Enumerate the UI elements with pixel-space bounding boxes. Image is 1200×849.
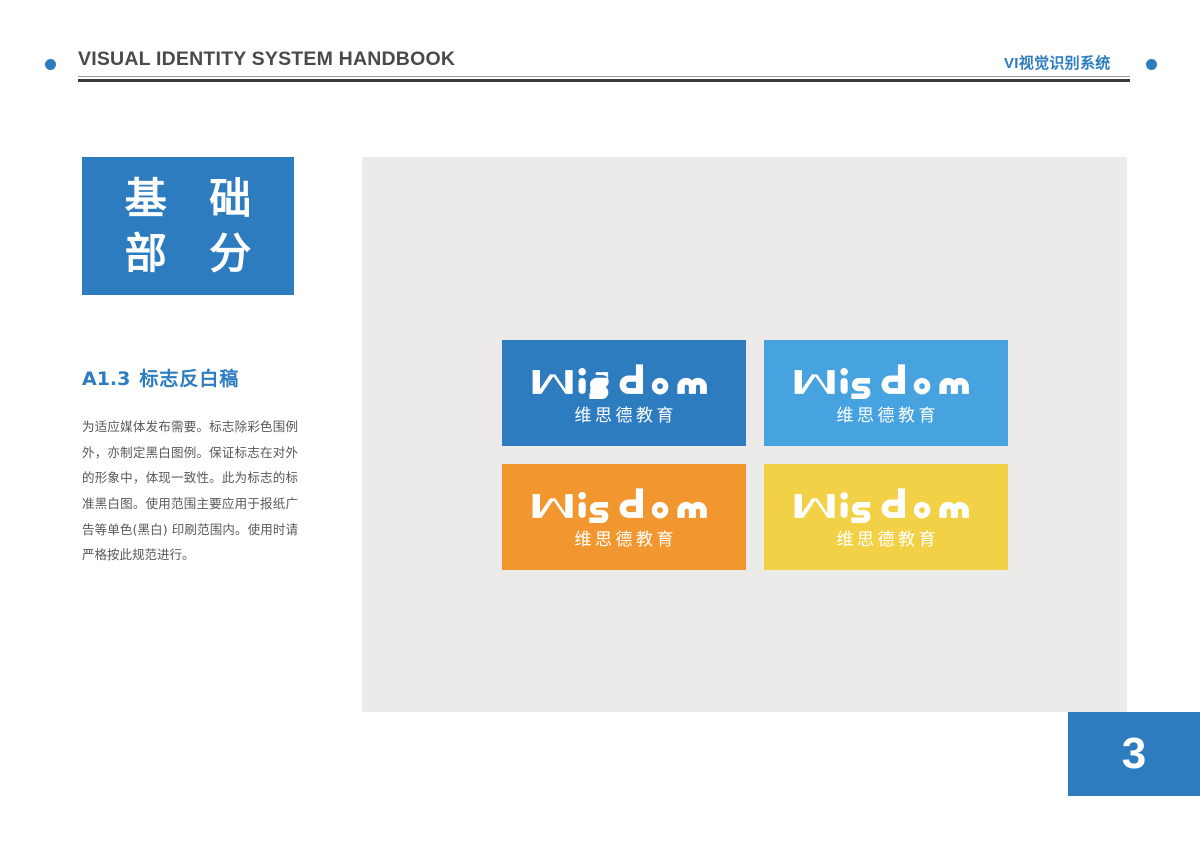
page-number-badge: 3: [1068, 712, 1200, 796]
header-subtitle: VI视觉识别系统: [1004, 52, 1111, 73]
page-title: VISUAL IDENTITY SYSTEM HANDBOOK: [78, 48, 455, 71]
wisdom-wordmark-icon: [792, 361, 980, 403]
section-heading: A1.3标志反白稿: [82, 364, 239, 391]
page-header: VISUAL IDENTITY SYSTEM HANDBOOK VI视觉识别系统: [0, 0, 1200, 100]
wisdom-wordmark-icon: [530, 485, 718, 527]
logo-lockup: 维思德教育: [792, 485, 980, 549]
header-rule-thin: [78, 76, 1130, 77]
section-badge-line-2: 部 分: [111, 226, 266, 281]
header-dot-right-icon: [1146, 59, 1157, 70]
wisdom-wordmark-icon: [530, 361, 718, 403]
logo-subtitle: 维思德教育: [833, 532, 939, 549]
logo-subtitle: 维思德教育: [571, 408, 677, 425]
logo-swatch-grid: 维思德教育 维思德教育: [502, 340, 1008, 570]
section-heading-text: 标志反白稿: [139, 368, 239, 390]
logo-swatch-blue[interactable]: 维思德教育: [502, 340, 746, 446]
logo-lockup: 维思德教育: [530, 361, 718, 425]
wisdom-wordmark-icon: [792, 485, 980, 527]
logo-subtitle: 维思德教育: [571, 532, 677, 549]
header-rule-thick: [78, 79, 1130, 82]
logo-swatch-light-blue[interactable]: 维思德教育: [764, 340, 1008, 446]
header-dot-left-icon: [45, 59, 56, 70]
section-body-copy: 为适应媒体发布需要。标志除彩色围例外，亦制定黑白图例。保证标志在对外的形象中，体…: [82, 414, 298, 568]
page-number: 3: [1122, 732, 1146, 776]
logo-swatch-orange[interactable]: 维思德教育: [502, 464, 746, 570]
section-badge: 基 础 部 分: [82, 157, 294, 295]
section-heading-number: A1.3: [82, 368, 130, 390]
logo-swatch-yellow[interactable]: 维思德教育: [764, 464, 1008, 570]
logo-lockup: 维思德教育: [530, 485, 718, 549]
section-badge-line-1: 基 础: [111, 171, 266, 226]
logo-subtitle: 维思德教育: [833, 408, 939, 425]
logo-lockup: 维思德教育: [792, 361, 980, 425]
